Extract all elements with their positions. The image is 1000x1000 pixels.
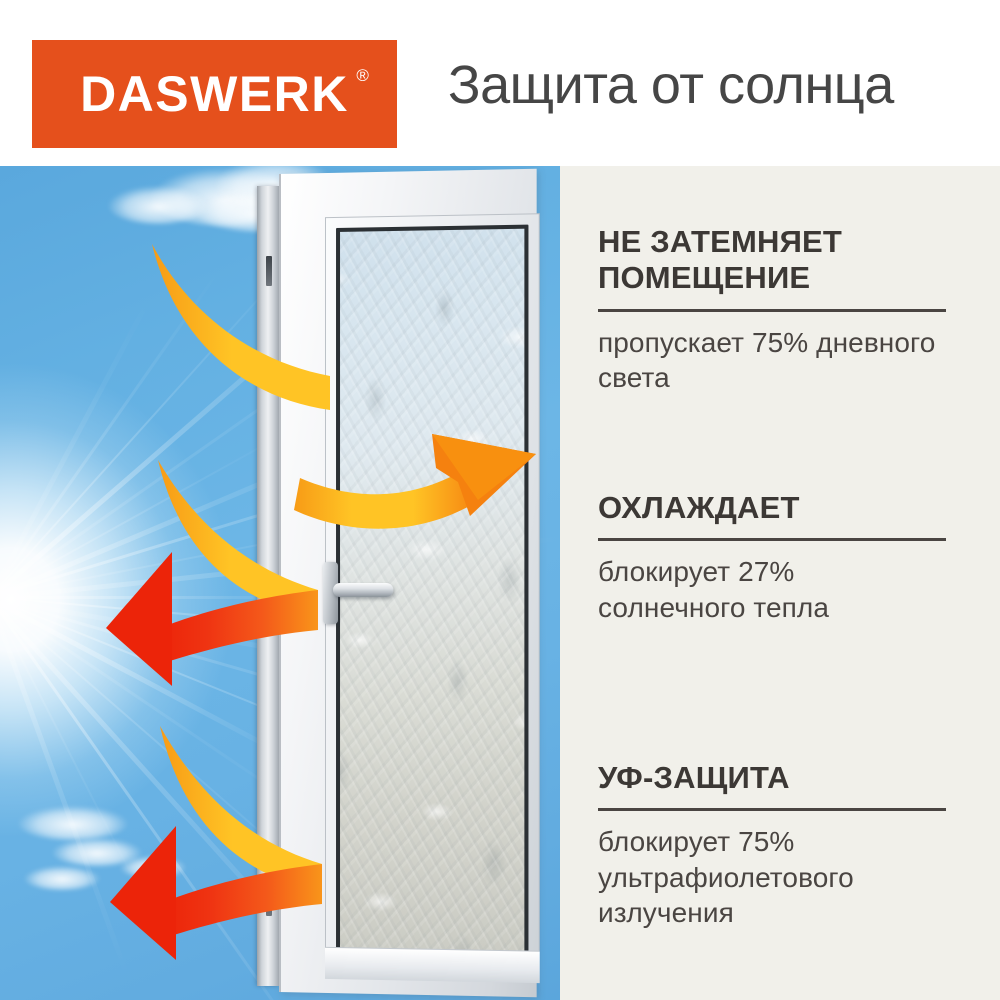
hinge-icon	[266, 256, 272, 286]
cloud	[120, 856, 186, 878]
cloud	[108, 186, 208, 224]
hinge-icon	[266, 586, 272, 616]
door-frame	[279, 169, 537, 998]
feature-title: НЕ ЗАТЕМНЯЕТ ПОМЕЩЕНИЕ	[598, 224, 948, 297]
product-photo	[0, 166, 560, 1000]
page-title: Защита от солнца	[448, 56, 894, 115]
product-poster: DASWERK ® Защита от солнца	[0, 0, 1000, 1000]
brand-name: DASWERK	[80, 66, 349, 122]
feature-description: пропускает 75% дневного света	[598, 325, 948, 396]
feature-title: УФ-ЗАЩИТА	[598, 760, 948, 796]
feature-block: НЕ ЗАТЕМНЯЕТ ПОМЕЩЕНИЕ пропускает 75% дн…	[598, 224, 948, 395]
feature-divider	[598, 538, 946, 541]
feature-description: блокирует 75% ультрафиолетового излучени…	[598, 824, 948, 930]
handle-lever	[333, 583, 393, 597]
hinge-icon	[266, 886, 272, 916]
feature-description: блокирует 27% солнечного тепла	[598, 554, 948, 625]
feature-title: ОХЛАЖДАЕТ	[598, 490, 948, 526]
cloud	[18, 806, 128, 840]
balcony-door	[255, 166, 560, 1000]
door-bottom-rail	[325, 947, 540, 983]
feature-divider	[598, 309, 946, 312]
feature-block: УФ-ЗАЩИТА блокирует 75% ультрафиолетовог…	[598, 760, 948, 930]
door-open-edge	[257, 186, 279, 986]
feature-divider	[598, 808, 946, 811]
cloud	[24, 866, 100, 890]
feature-list: НЕ ЗАТЕМНЯЕТ ПОМЕЩЕНИЕ пропускает 75% дн…	[598, 166, 958, 1000]
registered-trademark-icon: ®	[356, 67, 369, 84]
daswerk-logo: DASWERK ®	[32, 40, 397, 148]
feature-block: ОХЛАЖДАЕТ блокирует 27% солнечного тепла	[598, 490, 948, 625]
header-bar: DASWERK ® Защита от солнца	[0, 0, 1000, 166]
